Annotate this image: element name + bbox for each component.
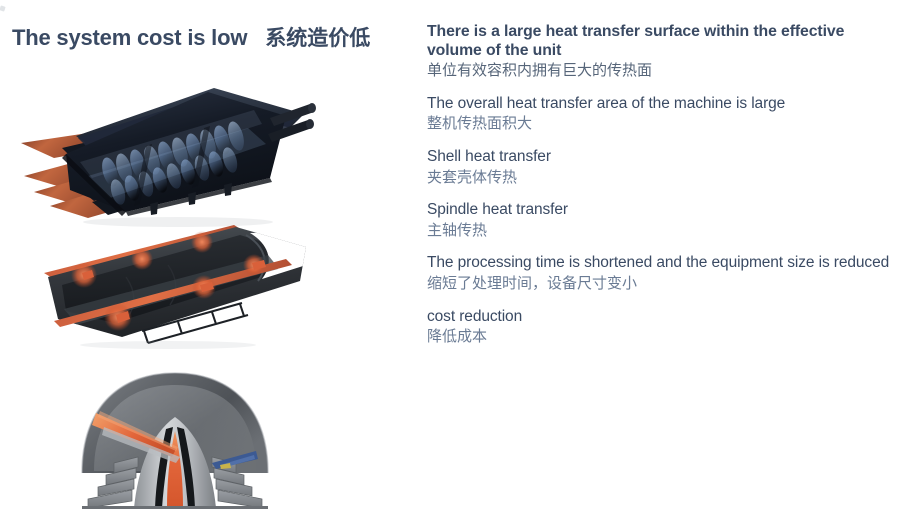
page-title-english: The system cost is low [12,25,247,50]
bullet-chinese: 夹套壳体传热 [427,168,897,188]
figure-cutaway-twin-shaft-heat-exchanger [18,80,328,230]
slide-canvas: The system cost is low系统造价低 [0,0,900,510]
list-item: The processing time is shortened and the… [427,254,897,293]
bullet-chinese: 整机传热面积大 [427,114,897,134]
figure-cross-section-heat-flow [60,365,290,510]
list-item: Spindle heat transfer 主轴传热 [427,201,897,240]
feature-list: There is a large heat transfer surface w… [427,22,897,347]
page-title-chinese: 系统造价低 [265,26,370,50]
list-item: There is a large heat transfer surface w… [427,22,897,81]
list-item: cost reduction 降低成本 [427,308,897,347]
bullet-chinese: 缩短了处理时间，设备尺寸变小 [427,274,897,294]
bullet-chinese: 单位有效容积内拥有巨大的传热面 [427,61,897,81]
figure-stack [0,80,415,510]
left-column: The system cost is low系统造价低 [0,0,415,510]
list-item: Shell heat transfer 夹套壳体传热 [427,148,897,187]
list-item: The overall heat transfer area of the ma… [427,95,897,134]
bullet-english: There is a large heat transfer surface w… [427,22,897,60]
bullet-english: The overall heat transfer area of the ma… [427,95,897,114]
bullet-english: Shell heat transfer [427,148,897,167]
page-title: The system cost is low系统造价低 [12,27,370,49]
bullet-chinese: 主轴传热 [427,221,897,241]
bullet-english: Spindle heat transfer [427,201,897,220]
figure-cutaway-jacketed-trough [18,225,328,355]
bullet-english: cost reduction [427,308,897,327]
bullet-chinese: 降低成本 [427,327,897,347]
bullet-english: The processing time is shortened and the… [427,254,897,273]
right-column: There is a large heat transfer surface w… [422,0,900,510]
